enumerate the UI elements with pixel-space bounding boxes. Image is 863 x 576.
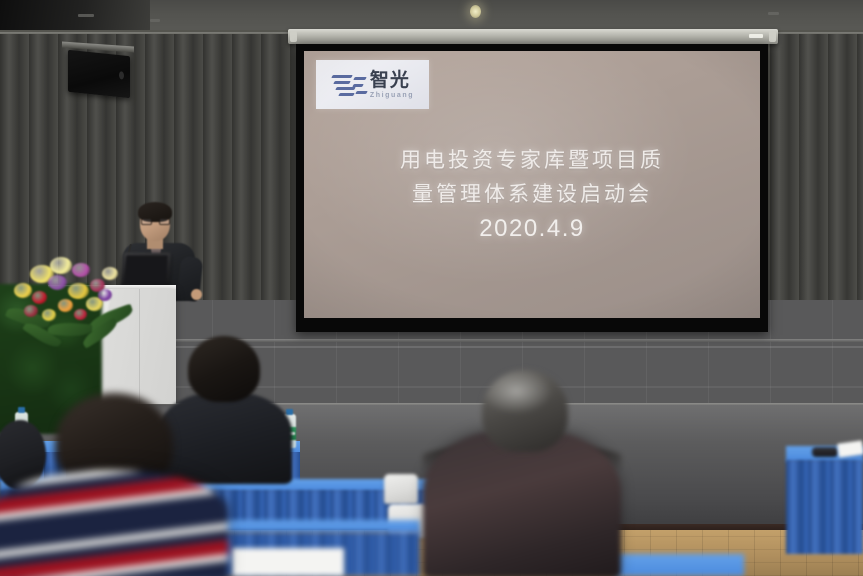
logo-pinyin: Zhiguang	[370, 92, 414, 99]
table-top-corner	[614, 554, 744, 576]
slide-logo-plate: 智光 Zhiguang	[316, 60, 429, 109]
flower-blossom	[24, 305, 38, 317]
wall-speaker-icon	[68, 50, 130, 99]
flower-blossom	[58, 299, 73, 312]
slide-title-line-2: 量管理体系建设启动会	[304, 177, 760, 211]
flower-blossom	[98, 289, 112, 301]
slide-title: 用电投资专家库暨项目质 量管理体系建设启动会	[304, 143, 760, 211]
housing-cap-left	[290, 31, 297, 42]
ceiling-shadow-left	[0, 0, 150, 34]
slide-date: 2020.4.9	[304, 215, 760, 243]
logo-text-group: 智光 Zhiguang	[370, 71, 414, 99]
wall-rail	[150, 339, 863, 342]
ceiling-light	[470, 5, 481, 18]
logo-chinese-name: 智光	[370, 71, 414, 90]
flower-blossom	[68, 283, 89, 299]
chair-back-4	[384, 474, 418, 504]
housing-cap-right	[769, 31, 776, 42]
glasses-icon	[141, 218, 170, 225]
black-object-right	[812, 447, 838, 457]
flower-blossom	[14, 283, 32, 298]
flower-blossom	[48, 275, 67, 290]
flower-blossom	[50, 257, 72, 274]
wall-rail-highlight	[150, 346, 863, 348]
audience-striped-sweater-body	[0, 470, 228, 576]
flower-blossom	[72, 263, 90, 277]
audience-dark-suit-body	[158, 392, 292, 484]
flower-blossom	[42, 309, 56, 321]
housing-pull-tab	[749, 34, 763, 38]
projection-screen: 智光 Zhiguang 用电投资专家库暨项目质 量管理体系建设启动会 2020.…	[296, 44, 768, 332]
table-skirt-right	[786, 460, 863, 554]
conference-photo-scene: 智光 Zhiguang 用电投资专家库暨项目质 量管理体系建设启动会 2020.…	[0, 0, 863, 576]
slide-title-line-1: 用电投资专家库暨项目质	[304, 143, 760, 177]
speaker-hand	[191, 289, 202, 300]
ceiling-vent-1	[78, 14, 94, 17]
ceiling-vent-3	[768, 12, 779, 15]
audience-grey-hair-head	[482, 370, 568, 452]
ceiling-vent-2	[150, 19, 160, 22]
document-sheet	[232, 548, 344, 576]
flower-blossom	[74, 309, 87, 320]
slide-surface: 智光 Zhiguang 用电投资专家库暨项目质 量管理体系建设启动会 2020.…	[304, 51, 760, 318]
audience-dark-suit-head	[188, 336, 260, 402]
flower-blossom	[32, 291, 47, 304]
floral-arrangement	[2, 253, 140, 353]
projection-screen-housing	[288, 29, 778, 44]
flower-blossom	[102, 267, 118, 280]
zhiguang-wave-logo-icon	[331, 72, 365, 98]
